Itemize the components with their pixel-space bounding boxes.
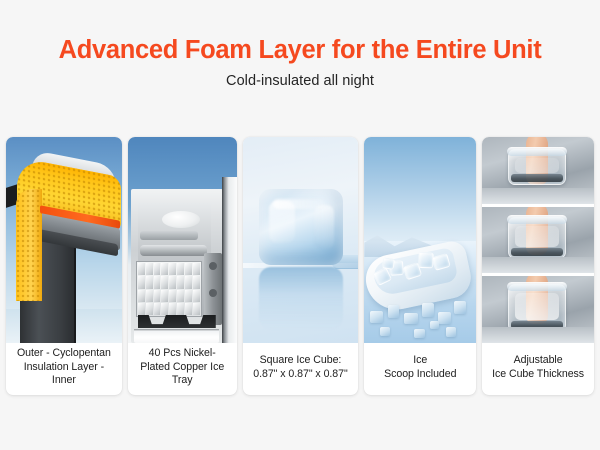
caption-line: 0.87" x 0.87" x 0.87" [253,368,347,382]
feature-caption: 40 Pcs Nickel- Plated Copper Ice Tray [128,343,237,395]
caption-line: 40 Pcs Nickel- [140,347,224,361]
caption-line: Inner [17,374,111,388]
ice-maker-interior-image [128,137,237,343]
cyclopentane-foam-side [16,189,42,301]
feature-card-insulation-layer[interactable]: Outer - Cyclopentan Insulation Layer - I… [6,137,122,395]
copper-ice-tray-grid [136,261,202,317]
ice-thickness-stack-image [482,137,594,343]
feature-card-square-ice-cube[interactable]: Square Ice Cube: 0.87" x 0.87" x 0.87" [243,137,359,395]
ice-cube-frost [515,293,559,320]
thickness-sample-medium [482,207,594,274]
ice-cube-sample [508,284,566,332]
interior-lamp [162,211,200,228]
page-subtitle: Cold-insulated all night [0,73,600,89]
thickness-sample-thin [482,137,594,204]
ice-scoop-image [364,137,476,343]
feature-card-adjustable-thickness[interactable]: Adjustable Ice Cube Thickness [482,137,594,395]
caption-line: Plated Copper Ice [140,361,224,375]
thickness-sample-thick [482,276,594,343]
feature-card-ice-scoop[interactable]: Ice Scoop Included [364,137,476,395]
caption-line: Insulation Layer - [17,361,111,375]
ice-cube-rim [507,282,567,291]
ice-cube-frost [515,158,559,173]
ice-cube-rim [507,215,567,224]
ice-cube-reflection [259,267,343,329]
ice-cube-frost [515,226,559,247]
ice-cube-rim [507,147,567,156]
page-title: Advanced Foam Layer for the Entire Unit [0,36,600,64]
caption-line: Outer - Cyclopentan [17,347,111,361]
caption-line: Square Ice Cube: [253,354,347,368]
square-ice-cube-image [243,137,359,343]
insulation-cutaway-image [6,137,122,343]
tray-side-bracket [204,253,222,325]
promo-page: Advanced Foam Layer for the Entire Unit … [0,0,600,450]
ice-basket-drawer [134,329,219,343]
cabinet-door-edge [222,177,237,343]
header: Advanced Foam Layer for the Entire Unit … [0,0,600,89]
caption-line: Tray [140,374,224,388]
caption-line: Ice [384,354,456,368]
caption-line: Ice Cube Thickness [492,368,584,382]
interior-bar [140,231,198,240]
table-surface [482,327,594,343]
ice-cube-sample [508,217,566,259]
scattered-ice-cubes [364,287,476,343]
caption-line: Scoop Included [384,368,456,382]
table-surface [482,257,594,273]
feature-caption: Square Ice Cube: 0.87" x 0.87" x 0.87" [243,343,359,395]
feature-card-strip: Outer - Cyclopentan Insulation Layer - I… [6,137,594,395]
ice-cube-highlight [273,199,325,209]
feature-caption: Outer - Cyclopentan Insulation Layer - I… [6,343,122,395]
table-surface [482,188,594,204]
feature-card-ice-tray[interactable]: 40 Pcs Nickel- Plated Copper Ice Tray [128,137,237,395]
ice-cube-base [511,174,563,182]
ice-cube-sample [508,149,566,185]
ice-cube-base [511,248,563,256]
feature-caption: Ice Scoop Included [364,343,476,395]
feature-caption: Adjustable Ice Cube Thickness [482,343,594,395]
water-pipe [140,245,207,256]
caption-line: Adjustable [492,354,584,368]
